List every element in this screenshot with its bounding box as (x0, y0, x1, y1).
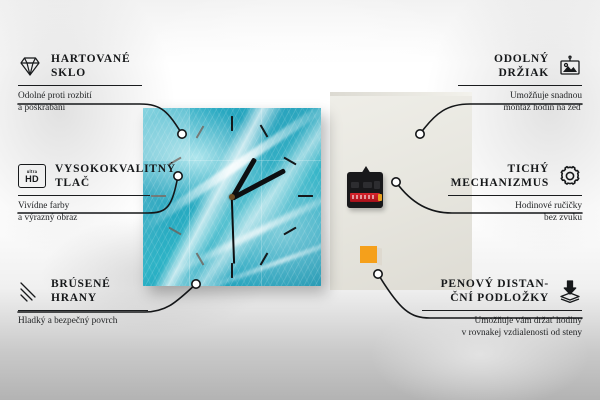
beveled-edges-icon (18, 279, 42, 303)
feature-desc-line: a výrazný obraz (18, 212, 150, 224)
feature-header: ODOLNÝ DRŽIAK (458, 52, 582, 80)
feature-divider (422, 310, 582, 311)
feature-header: HARTOVANÉ SKLO (18, 52, 142, 80)
foam-spacer-pad-side (377, 247, 382, 265)
feature-desc-line: bez zvuku (448, 212, 582, 224)
feature-header: TICHÝ MECHANIZMUS (448, 162, 582, 190)
feature-wall-mount: ODOLNÝ DRŽIAK Umožňuje snadnou montáž ho… (458, 52, 582, 114)
feature-hd-print: ultra HD VYSOKOKVALITNÝ TLAČ Vivídne far… (18, 162, 150, 224)
battery-terminal (378, 194, 382, 201)
feature-divider (18, 195, 150, 196)
clock-mechanism-slot (374, 181, 380, 189)
feature-title: TICHÝ MECHANIZMUS (451, 162, 549, 190)
feature-desc-line: Vivídne farby (18, 200, 150, 212)
foam-spacer-pad (360, 246, 377, 263)
feature-desc-line: Odolné proti rozbití (18, 90, 142, 102)
feature-desc-line: Hodinové ručičky (448, 200, 582, 212)
feature-desc-line: Umožňuje vám držať hodiny (422, 315, 582, 327)
feature-divider (458, 85, 582, 86)
ultra-hd-icon: ultra HD (18, 164, 46, 188)
ultra-hd-icon-main: HD (25, 174, 39, 184)
clock-mechanism-box (347, 172, 383, 208)
feature-silent-mechanism: TICHÝ MECHANIZMUS Hodinové ručičky bez z… (448, 162, 582, 224)
battery-label (352, 195, 376, 199)
feature-desc-line: v rovnakej vzdialenosti od steny (422, 327, 582, 339)
feature-title: BRÚSENÉ HRANY (51, 277, 111, 305)
feature-desc-line: Umožňuje snadnou (458, 90, 582, 102)
feature-header: BRÚSENÉ HRANY (18, 277, 148, 305)
feature-hardened-glass: HARTOVANÉ SKLO Odolné proti rozbití a po… (18, 52, 142, 114)
feature-desc-line: a poškrábání (18, 102, 142, 114)
feature-title: PENOVÝ DISTAN- ČNÍ PODLOŽKY (441, 277, 549, 305)
clock-mechanism-slot (363, 182, 372, 188)
foam-spacer-arrow-icon (558, 279, 582, 303)
feature-desc-line: montáž hodin na zeď (458, 102, 582, 114)
wall-mount-picture-icon (558, 54, 582, 78)
product-infographic: HARTOVANÉ SKLO Odolné proti rozbití a po… (0, 0, 600, 400)
feature-desc-line: Hladký a bezpečný povrch (18, 315, 148, 327)
feature-header: PENOVÝ DISTAN- ČNÍ PODLOŽKY (422, 277, 582, 305)
feature-divider (448, 195, 582, 196)
feature-foam-spacers: PENOVÝ DISTAN- ČNÍ PODLOŽKY Umožňuje vám… (422, 277, 582, 339)
feature-divider (18, 310, 148, 311)
feature-title: ODOLNÝ DRŽIAK (494, 52, 549, 80)
product-photo-wall-edge (330, 92, 472, 96)
clock-glass-gloss (143, 108, 321, 286)
diamond-icon (18, 54, 42, 78)
feature-header: ultra HD VYSOKOKVALITNÝ TLAČ (18, 162, 150, 190)
clock-mechanism-slot (351, 182, 359, 188)
feature-beveled-edges: BRÚSENÉ HRANY Hladký a bezpečný povrch (18, 277, 148, 327)
feature-title: HARTOVANÉ SKLO (51, 52, 130, 80)
feature-title: VYSOKOKVALITNÝ TLAČ (55, 162, 176, 190)
feature-divider (18, 85, 142, 86)
gear-icon (558, 164, 582, 188)
wall-clock (143, 108, 321, 286)
